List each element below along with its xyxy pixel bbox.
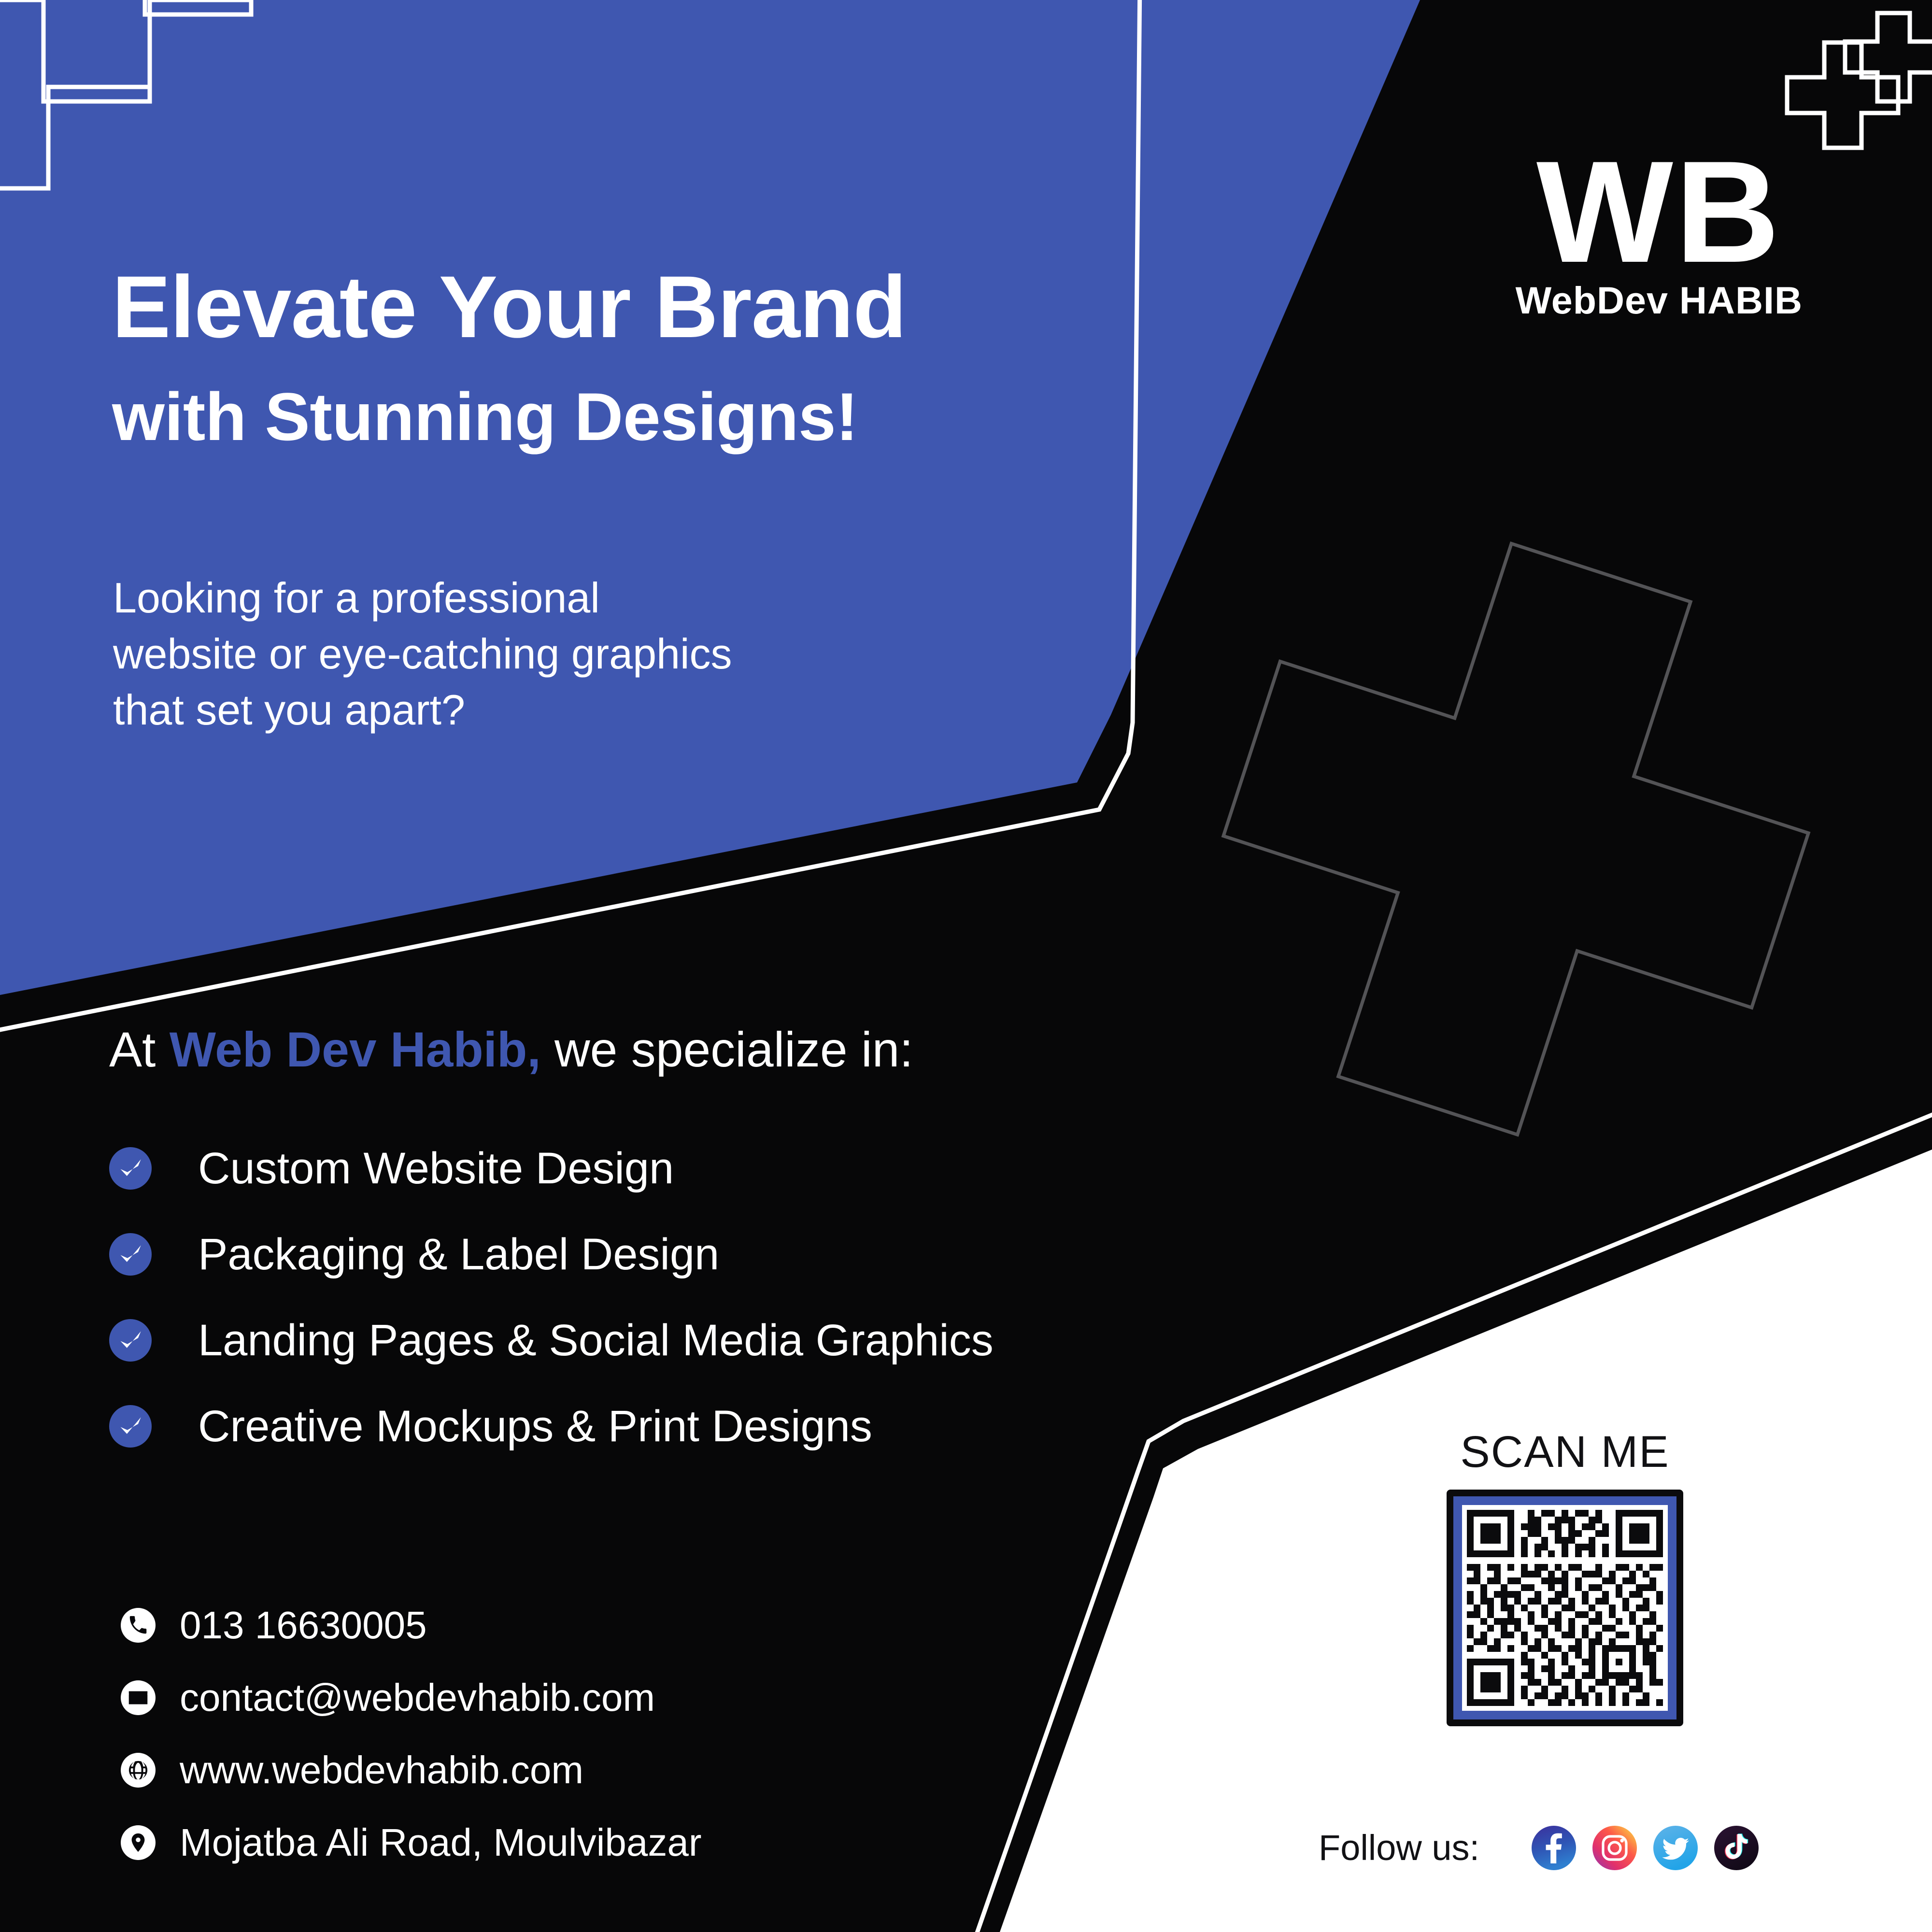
social-icon-row xyxy=(1531,1825,1760,1871)
specialize-prefix: At xyxy=(109,1022,170,1077)
service-label: Packaging & Label Design xyxy=(198,1232,719,1277)
location-pin-icon xyxy=(121,1825,156,1860)
check-icon xyxy=(109,1405,152,1448)
scan-me-label: SCAN ME xyxy=(1430,1430,1700,1474)
list-item: Creative Mockups & Print Designs xyxy=(109,1383,1365,1469)
twitter-icon[interactable] xyxy=(1652,1825,1699,1871)
qr-code-matrix xyxy=(1467,1510,1663,1706)
subhead-line-2: website or eye-catching graphics xyxy=(113,626,1031,682)
logo-mark: WB xyxy=(1516,145,1803,278)
follow-us-label: Follow us: xyxy=(1319,1830,1479,1866)
contact-block: 013 16630005 contact@webdevhabib.com www… xyxy=(121,1589,702,1879)
hero-subheading: Looking for a professional website or ey… xyxy=(113,570,1031,738)
service-label: Custom Website Design xyxy=(198,1146,674,1191)
phone-icon xyxy=(121,1608,156,1643)
check-icon xyxy=(109,1147,152,1190)
email-value: contact@webdevhabib.com xyxy=(180,1678,655,1717)
brand-name-highlight: Web Dev Habib, xyxy=(170,1022,541,1077)
headline-line-1: Elevate Your Brand xyxy=(112,261,1223,353)
facebook-icon[interactable] xyxy=(1531,1825,1577,1871)
logo: WB WebDev HABIB xyxy=(1516,145,1803,319)
check-icon xyxy=(109,1319,152,1362)
logo-wordmark: WebDev HABIB xyxy=(1516,281,1803,319)
check-icon xyxy=(109,1233,152,1276)
address-value: Mojatba Ali Road, Moulvibazar xyxy=(180,1823,702,1862)
hero-headline: Elevate Your Brand with Stunning Designs… xyxy=(112,261,1223,452)
phone-value: 013 16630005 xyxy=(180,1606,427,1645)
contact-phone[interactable]: 013 16630005 xyxy=(121,1589,702,1662)
follow-us-block: Follow us: xyxy=(1319,1825,1760,1871)
globe-icon xyxy=(121,1753,156,1788)
headline-line-2: with Stunning Designs! xyxy=(112,381,1223,452)
subhead-line-3: that set you apart? xyxy=(113,682,1031,738)
subhead-line-1: Looking for a professional xyxy=(113,570,1031,626)
specialize-heading: At Web Dev Habib, we specialize in: xyxy=(109,1022,913,1078)
contact-address[interactable]: Mojatba Ali Road, Moulvibazar xyxy=(121,1806,702,1879)
list-item: Packaging & Label Design xyxy=(109,1211,1365,1297)
list-item: Custom Website Design xyxy=(109,1125,1365,1211)
service-label: Landing Pages & Social Media Graphics xyxy=(198,1318,994,1363)
list-item: Landing Pages & Social Media Graphics xyxy=(109,1297,1365,1383)
promotional-poster: WB WebDev HABIB Elevate Your Brand with … xyxy=(0,0,1932,1932)
specialize-suffix: we specialize in: xyxy=(541,1022,913,1077)
contact-website[interactable]: www.webdevhabib.com xyxy=(121,1734,702,1806)
qr-code[interactable] xyxy=(1447,1490,1683,1726)
email-icon xyxy=(121,1680,156,1715)
service-label: Creative Mockups & Print Designs xyxy=(198,1404,872,1449)
tiktok-icon[interactable] xyxy=(1713,1825,1760,1871)
website-value: www.webdevhabib.com xyxy=(180,1751,583,1790)
qr-block: SCAN ME xyxy=(1430,1430,1700,1726)
instagram-icon[interactable] xyxy=(1591,1825,1638,1871)
services-list: Custom Website Design Packaging & Label … xyxy=(109,1125,1365,1469)
contact-email[interactable]: contact@webdevhabib.com xyxy=(121,1662,702,1734)
